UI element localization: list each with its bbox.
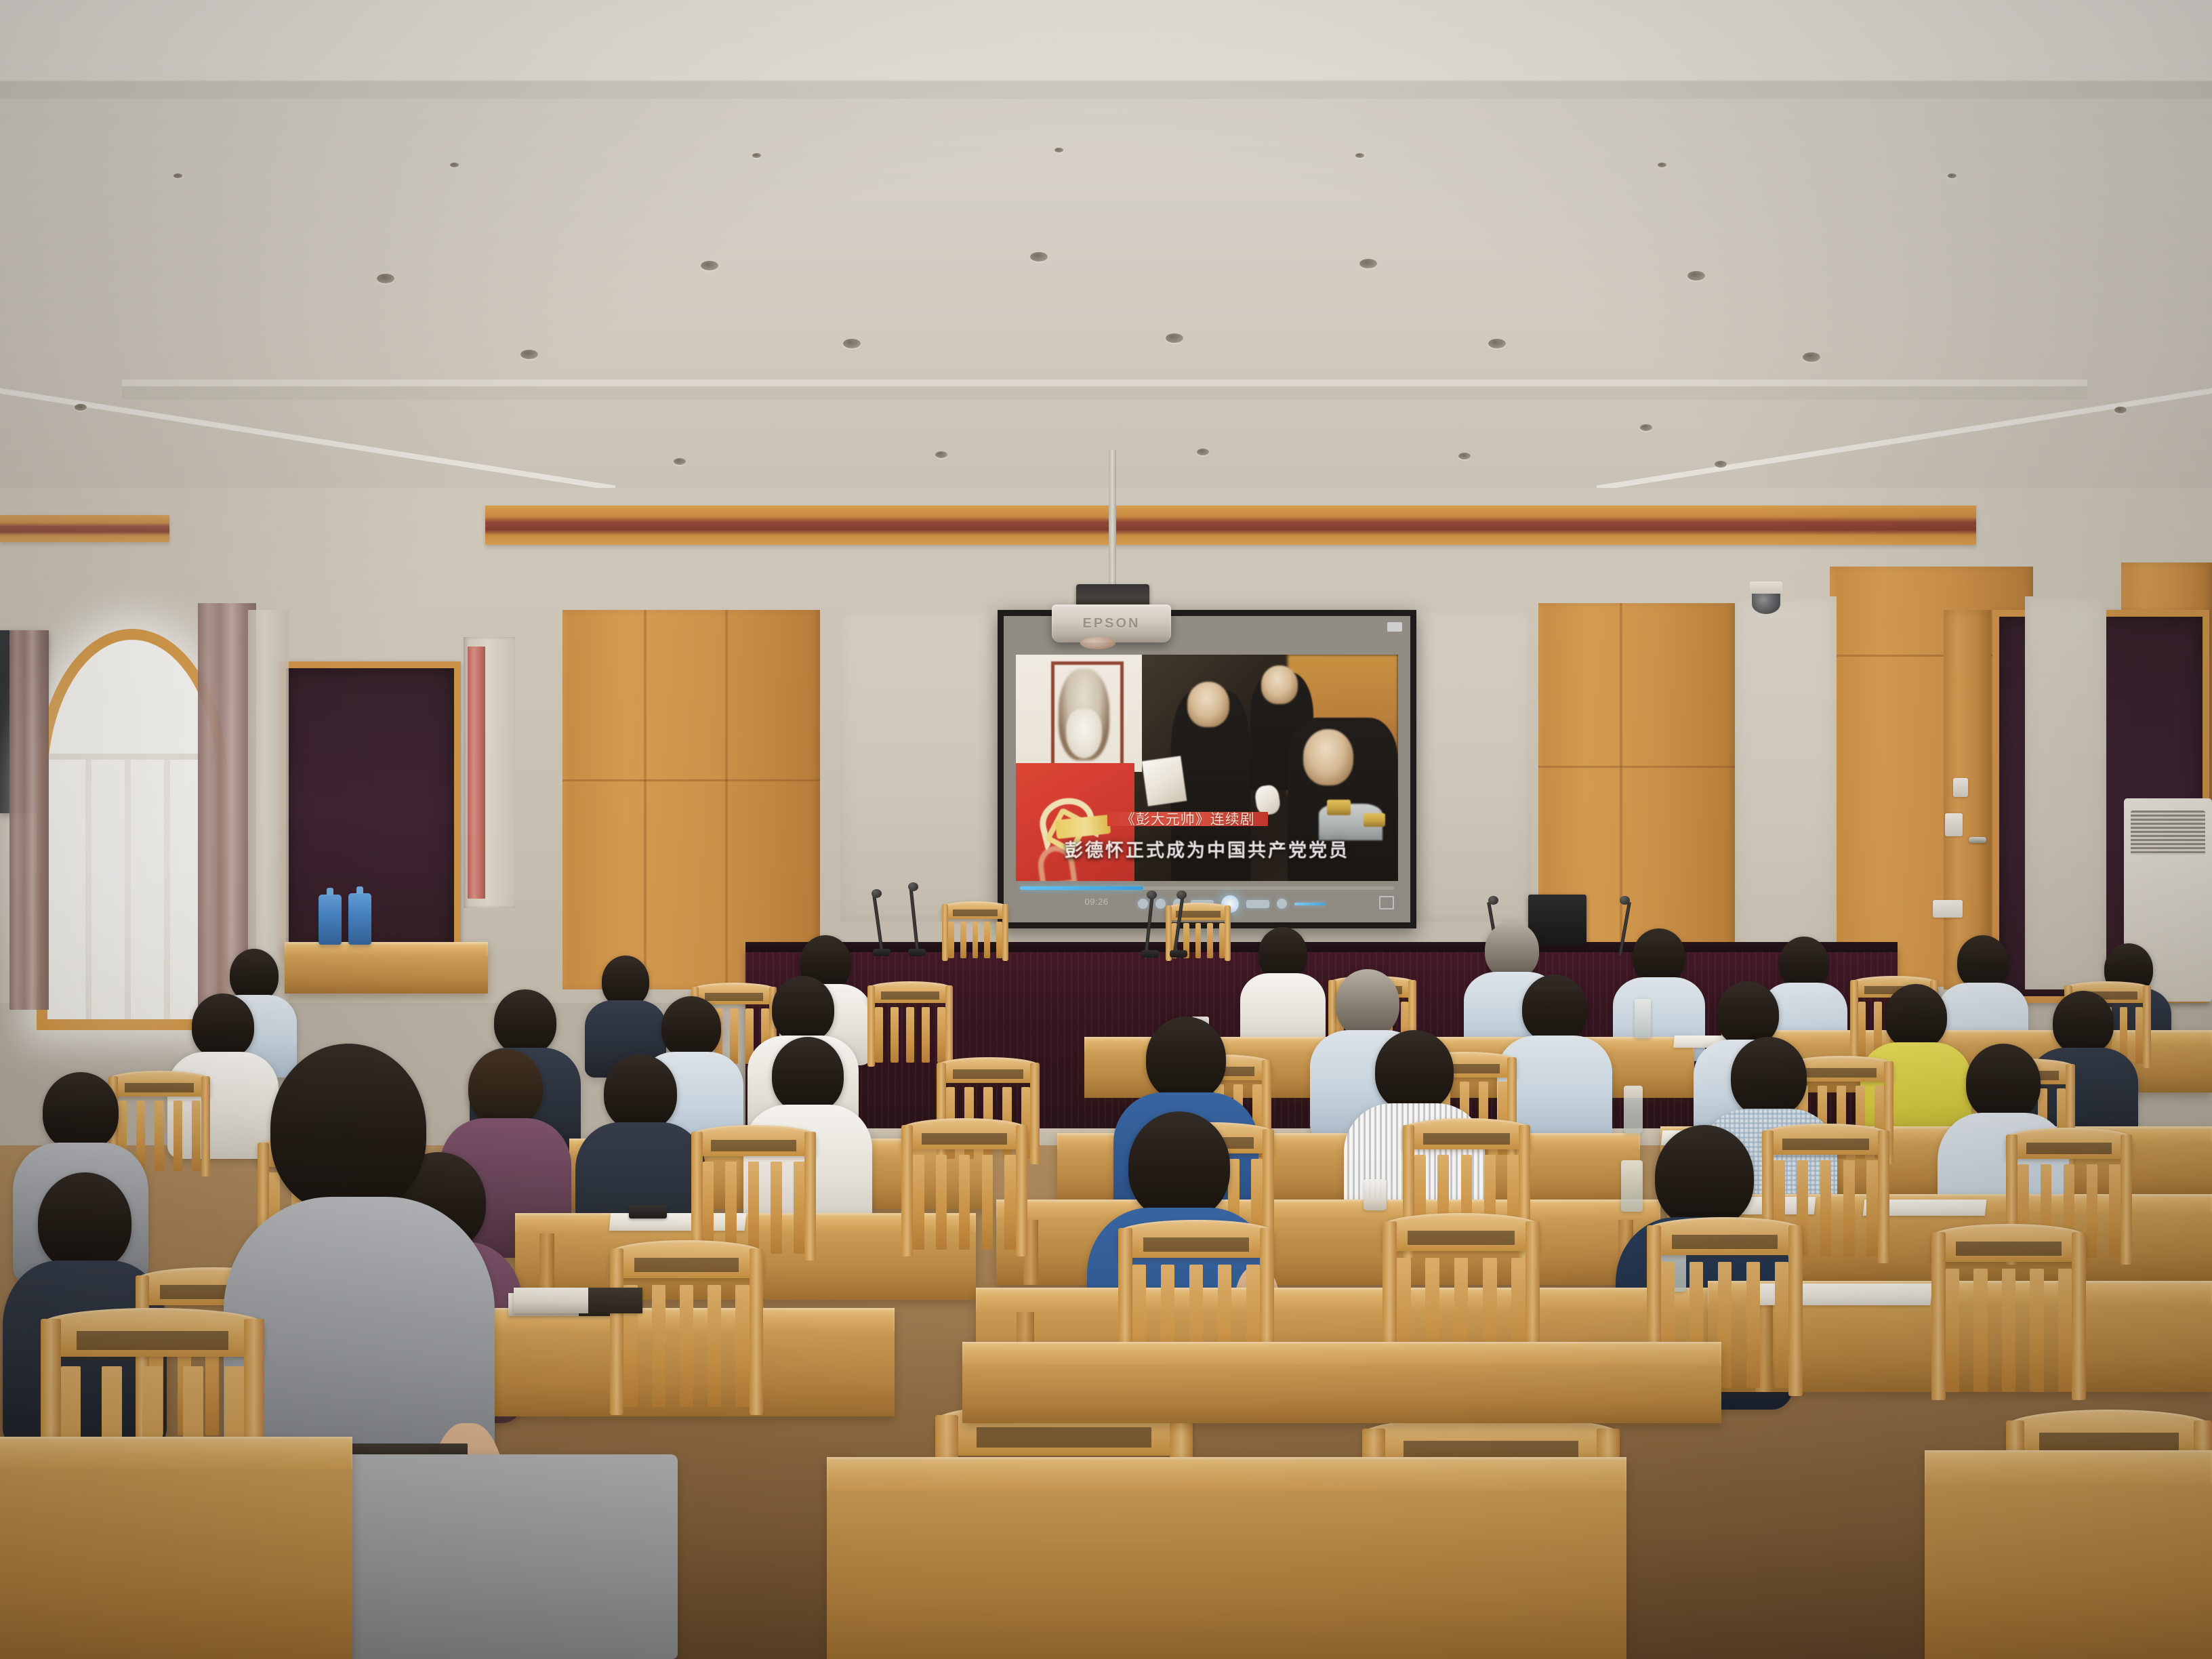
video-portrait-beard [1066, 709, 1101, 758]
projector-mount-bracket [1076, 584, 1149, 607]
video-face-soldier-1 [1187, 682, 1229, 727]
ceiling-downlight [1658, 163, 1666, 167]
next-icon[interactable] [1277, 899, 1287, 909]
foreground-desk-right [1925, 1450, 2212, 1659]
audience-chair[interactable] [1931, 1224, 2086, 1392]
foreground-desk-left [0, 1437, 352, 1659]
microphone-base [908, 949, 926, 956]
projector-mount-pole [1109, 450, 1116, 590]
ceiling-downlight [1948, 173, 1957, 178]
ceiling-downlight [1166, 333, 1183, 343]
entry-door [1944, 610, 1991, 989]
projection-screen-frame: 《彭大元帅》连续剧 彭德怀正式成为中国共产党党员 09:26 [998, 610, 1416, 928]
stop-icon[interactable] [1155, 899, 1166, 909]
ceiling-downlight [1687, 271, 1705, 281]
water-bottle-blue [319, 895, 342, 945]
ceiling-downlight [520, 350, 538, 359]
microphone-head-icon [1488, 896, 1498, 905]
window-curtain-left [9, 630, 49, 1010]
fullscreen-icon[interactable] [1379, 896, 1394, 909]
microphone-head-icon [908, 882, 918, 891]
ceiling-downlight [75, 404, 87, 411]
ceiling-downlight [752, 153, 761, 158]
projector-body: EPSON [1052, 605, 1171, 642]
video-progress-bar[interactable] [1020, 886, 1395, 890]
video-epaulette [1327, 800, 1351, 815]
audience-chair[interactable] [610, 1240, 763, 1407]
audience-chair[interactable] [691, 1125, 816, 1254]
ceiling-downlight [2114, 407, 2127, 413]
projector-lens [1080, 637, 1115, 649]
mobile-phone [629, 1205, 667, 1218]
ceiling-downlight [1359, 259, 1377, 268]
microphone-base [873, 949, 890, 956]
foreground-desk-center [827, 1457, 1626, 1659]
red-banner-recess [464, 637, 515, 908]
arched-window [37, 629, 206, 1008]
ceiling-downlight [701, 261, 718, 270]
ceiling-downlight [1715, 461, 1727, 468]
microphone-base [1141, 950, 1159, 958]
ceiling-downlight [1458, 453, 1471, 459]
wall-valance-center [485, 506, 1976, 545]
door-handle-icon[interactable] [1969, 837, 1986, 843]
video-face-soldier-3 [1303, 729, 1353, 786]
ceiling-downlight [935, 451, 947, 458]
ceiling-downlight [1355, 153, 1364, 158]
skip-forward-icon[interactable] [1246, 900, 1269, 908]
video-time-label: 09:26 [1085, 897, 1109, 907]
wall-valance-left [0, 515, 169, 542]
microphone-head-icon [872, 889, 882, 898]
drinking-cup [1364, 1179, 1387, 1210]
ceiling-downlight [1054, 148, 1063, 152]
ceiling-downlight [1640, 424, 1652, 431]
projection-screen: 《彭大元帅》连续剧 彭德怀正式成为中国共产党党员 09:26 [1004, 616, 1410, 922]
video-poster-area [1016, 655, 1142, 773]
projector-brand-label: EPSON [1082, 616, 1140, 632]
volume-slider[interactable] [1294, 903, 1326, 905]
side-ledge-left [285, 942, 488, 994]
ceiling-downlight [843, 339, 861, 348]
conference-room-scene: 《彭大元帅》连续剧 彭德怀正式成为中国共产党党员 09:26 [0, 0, 2212, 1659]
glass-bottle [1635, 999, 1651, 1038]
video-playback-area: 《彭大元帅》连续剧 彭德怀正式成为中国共产党党员 [1016, 655, 1398, 881]
microphone-head-icon [1176, 890, 1187, 899]
previous-icon[interactable] [1138, 899, 1148, 909]
video-epaulette [1364, 813, 1385, 827]
microphone-head-icon [1620, 896, 1630, 905]
power-outlet [1933, 900, 1963, 918]
screen-top-right-icon [1387, 622, 1402, 632]
window-sheer-curtain [248, 610, 289, 1003]
wall-panel [562, 610, 820, 989]
ceiling-downlight [1803, 352, 1820, 362]
video-title-text: 《彭大元帅》连续剧 [1121, 808, 1255, 829]
mid-desk-center [962, 1342, 1721, 1423]
ceiling-downlight [674, 458, 686, 465]
ceiling-downlight [1197, 449, 1209, 455]
foreground-trousers [298, 1454, 678, 1659]
water-bottle-blue [348, 893, 371, 945]
microphone-base [1170, 950, 1187, 958]
stage-chair-left[interactable] [942, 901, 1008, 958]
video-paper-prop [1142, 756, 1187, 806]
ceiling-downlight [1030, 252, 1048, 262]
ceiling [0, 0, 2212, 542]
ceiling-downlight [377, 274, 394, 283]
dome-camera-icon [1750, 581, 1782, 614]
video-subtitle: 彭德怀正式成为中国共产党党员 [1016, 836, 1398, 862]
ceiling-downlight [450, 163, 459, 167]
video-face-soldier-2 [1261, 665, 1298, 704]
ceiling-downlight [1488, 339, 1506, 348]
audience-chair[interactable] [901, 1118, 1027, 1250]
ceiling-downlight [173, 173, 182, 178]
video-progress-fill [1020, 886, 1143, 890]
right-wall-white [2025, 596, 2106, 989]
microphone-head-icon [1147, 890, 1157, 899]
video-title-strip: 《彭大元帅》连续剧 [1107, 812, 1268, 826]
audience-chair[interactable] [867, 981, 953, 1063]
light-switch[interactable] [1945, 813, 1963, 836]
wall-switch-right[interactable] [1953, 778, 1968, 797]
notebook [514, 1288, 642, 1313]
